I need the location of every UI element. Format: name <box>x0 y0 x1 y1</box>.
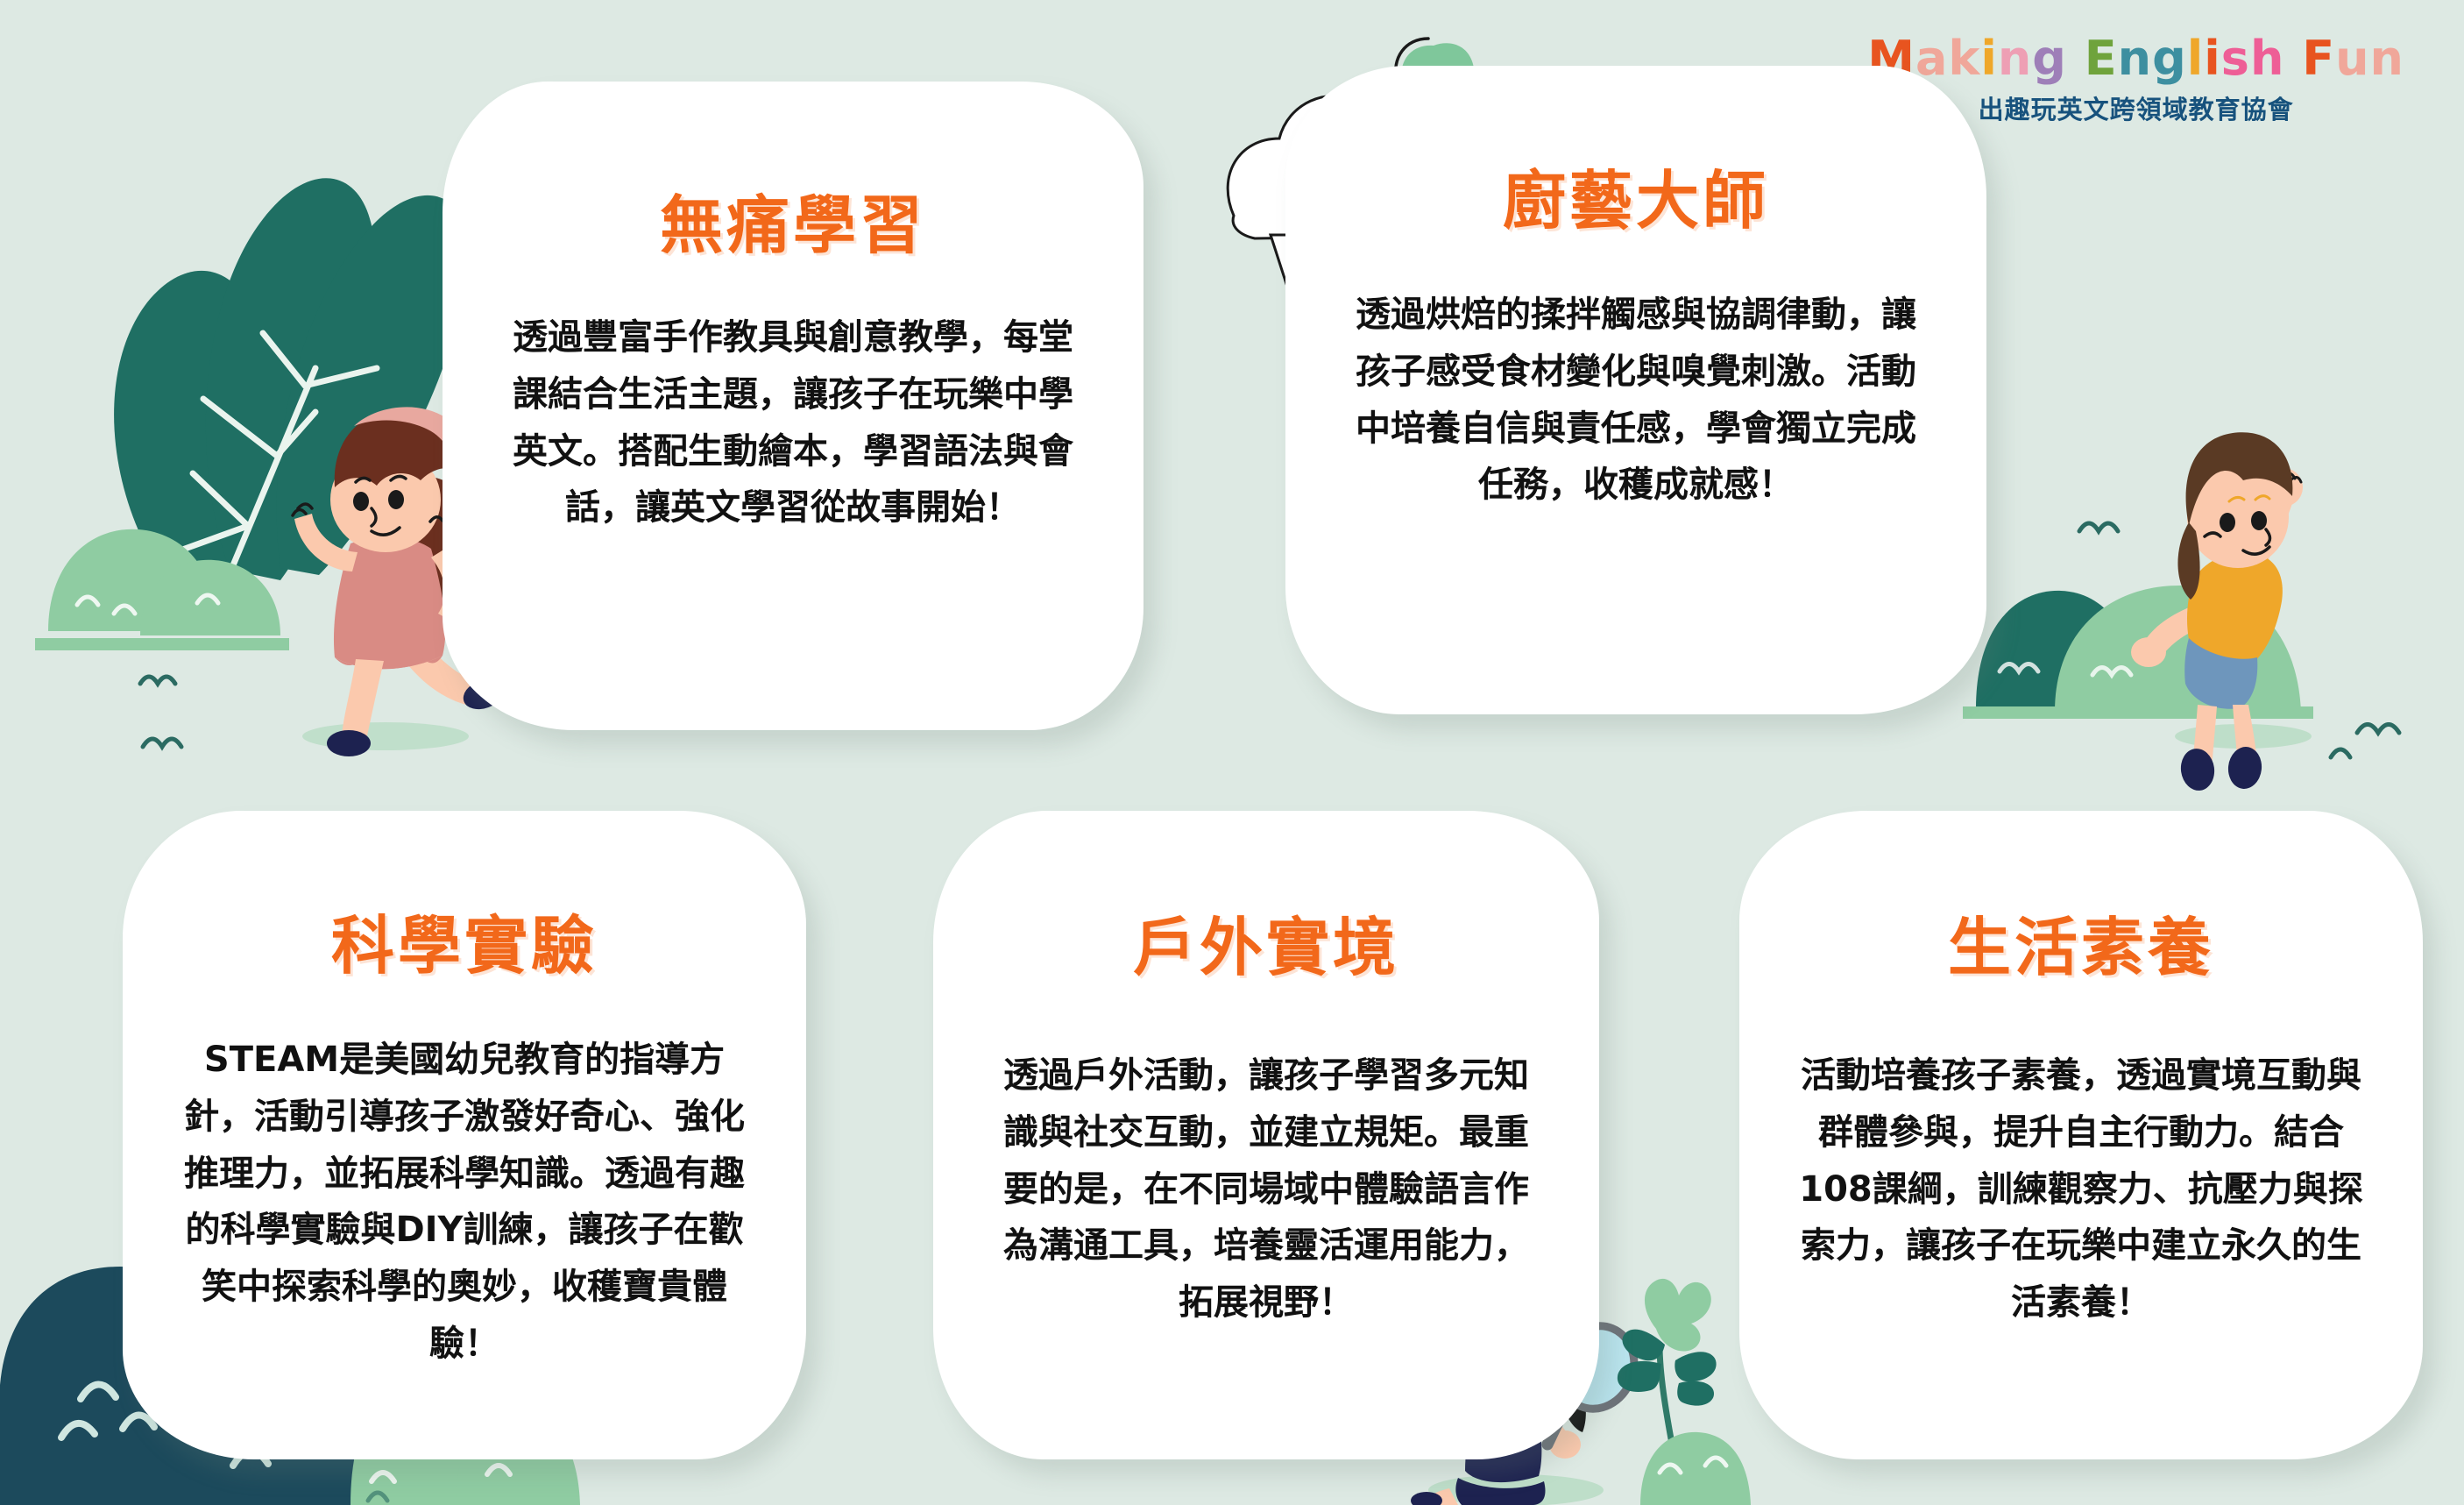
brand-letter: n <box>2370 35 2404 82</box>
poster-canvas: Making English Fun 出趣玩英文跨領域教育協會 無痛學習 透過豐… <box>0 0 2464 1505</box>
green-bush-icon <box>1963 586 2313 719</box>
card-title: 無痛學習 <box>660 194 926 257</box>
brand-letter: F <box>2302 35 2335 82</box>
feature-card-culinary-master[interactable]: 廚藝大師 透過烘焙的揉拌觸感與協調律動，讓孩子感受食材變化與嗅覺刺激。活動中培養… <box>1285 66 1986 714</box>
feature-card-painless-learning[interactable]: 無痛學習 透過豐富手作教具與創意教學，每堂課結合生活主題，讓孩子在玩樂中學英文。… <box>443 82 1143 730</box>
grass-tuft-icon <box>140 677 181 747</box>
brand-letter: l <box>2187 35 2205 82</box>
feature-card-life-literacy[interactable]: 生活素養 活動培養孩子素養，透過實境互動與群體參與，提升自主行動力。結合108課… <box>1739 811 2423 1459</box>
brand-letter: a <box>1915 35 1948 82</box>
sprout-plant-icon <box>1618 1279 1751 1505</box>
grass-tuft-icon <box>368 1493 387 1501</box>
brand-letter: n <box>1998 35 2032 82</box>
brand-letter: g <box>2032 35 2067 82</box>
brand-letter <box>2067 35 2085 82</box>
brand-letter <box>2284 35 2302 82</box>
card-title: 廚藝大師 <box>1503 169 1769 232</box>
card-title: 生活素養 <box>1948 916 2214 979</box>
brand-letter: g <box>2152 35 2187 82</box>
card-body: STEAM是美國幼兒教育的指導方針，活動引導孩子激發好奇心、強化推理力，並拓展科… <box>123 1032 806 1373</box>
brand-letter: i <box>2204 35 2221 82</box>
brand-name: Making English Fun <box>1867 35 2404 82</box>
feature-card-outdoor-immersion[interactable]: 戶外實境 透過戶外活動，讓孩子學習多元知識與社交互動，並建立規矩。最重要的是，在… <box>933 811 1599 1459</box>
card-body: 透過戶外活動，讓孩子學習多元知識與社交互動，並建立規矩。最重要的是，在不同場域中… <box>933 1047 1599 1331</box>
brand-letter: h <box>2250 35 2284 82</box>
brand-letter: s <box>2221 35 2250 82</box>
feature-card-science-experiment[interactable]: 科學實驗 STEAM是美國幼兒教育的指導方針，活動引導孩子激發好奇心、強化推理力… <box>123 811 806 1459</box>
grass-tuft-icon <box>2079 523 2399 757</box>
card-title: 科學實驗 <box>331 914 598 977</box>
card-body: 活動培養孩子素養，透過實境互動與群體參與，提升自主行動力。結合108課綱，訓練觀… <box>1739 1047 2423 1331</box>
jumping-boy-icon <box>2131 432 2312 792</box>
card-title: 戶外實境 <box>1133 916 1399 979</box>
brand-letter: k <box>1948 35 1980 82</box>
card-body: 透過豐富手作教具與創意教學，每堂課結合生活主題，讓孩子在玩樂中學英文。搭配生動繪… <box>443 309 1143 536</box>
brand-letter: u <box>2335 35 2369 82</box>
brand-letter: i <box>1980 35 1998 82</box>
leaf-plant-icon <box>114 178 468 614</box>
card-body: 透過烘焙的揉拌觸感與協調律動，讓孩子感受食材變化與嗅覺刺激。活動中培養自信與責任… <box>1285 287 1986 514</box>
brand-letter: n <box>2118 35 2152 82</box>
brand-letter: E <box>2085 35 2118 82</box>
green-bush-icon <box>35 529 289 650</box>
